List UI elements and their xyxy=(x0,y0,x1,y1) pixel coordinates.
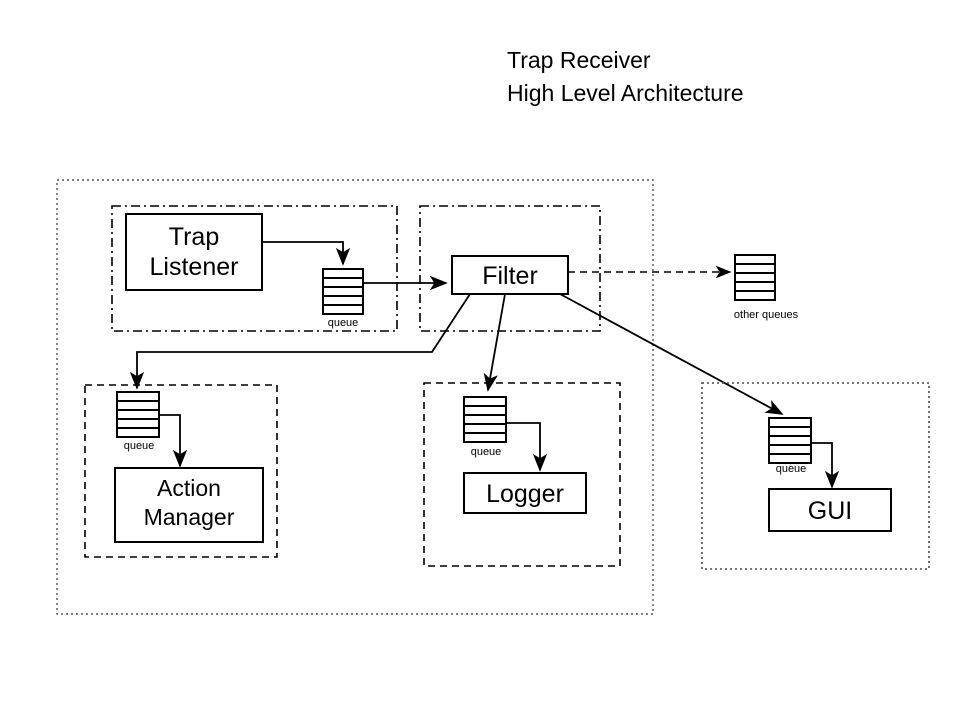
connector-filter-to-logger-queue xyxy=(488,294,505,390)
other-queues-caption: other queues xyxy=(734,309,799,321)
gui-queue-caption: queue xyxy=(776,463,807,475)
connector-logger-queue-to-logger xyxy=(506,423,540,470)
architecture-diagram: Trap Receiver High Level Architecture Tr… xyxy=(0,0,960,720)
gui-queue[interactable] xyxy=(769,418,811,463)
action-queue-caption: queue xyxy=(124,440,155,452)
listener-queue[interactable] xyxy=(323,269,363,314)
logger-label: Logger xyxy=(486,480,564,508)
diagram-canvas: Trap Receiver High Level Architecture Tr… xyxy=(0,0,960,720)
filter-label: Filter xyxy=(482,262,538,290)
connector-action-queue-to-manager xyxy=(159,415,180,466)
logger-queue-caption: queue xyxy=(471,446,502,458)
connector-listener-to-queue xyxy=(262,242,343,264)
gui-group xyxy=(702,383,929,569)
action-manager-label-line1: Action xyxy=(157,475,221,501)
trap-listener-label-line1: Trap xyxy=(169,223,219,251)
action-manager-label-line2: Manager xyxy=(144,504,235,530)
logger-queue[interactable] xyxy=(464,397,506,442)
other-queues-stack[interactable] xyxy=(735,255,775,300)
trap-listener-label-line2: Listener xyxy=(150,253,239,281)
connector-gui-queue-to-gui xyxy=(811,443,832,487)
listener-queue-caption: queue xyxy=(328,317,359,329)
page-title-line2: High Level Architecture xyxy=(507,80,744,106)
page-title-line1: Trap Receiver xyxy=(507,47,651,73)
gui-label: GUI xyxy=(808,497,852,525)
action-queue[interactable] xyxy=(117,392,159,437)
